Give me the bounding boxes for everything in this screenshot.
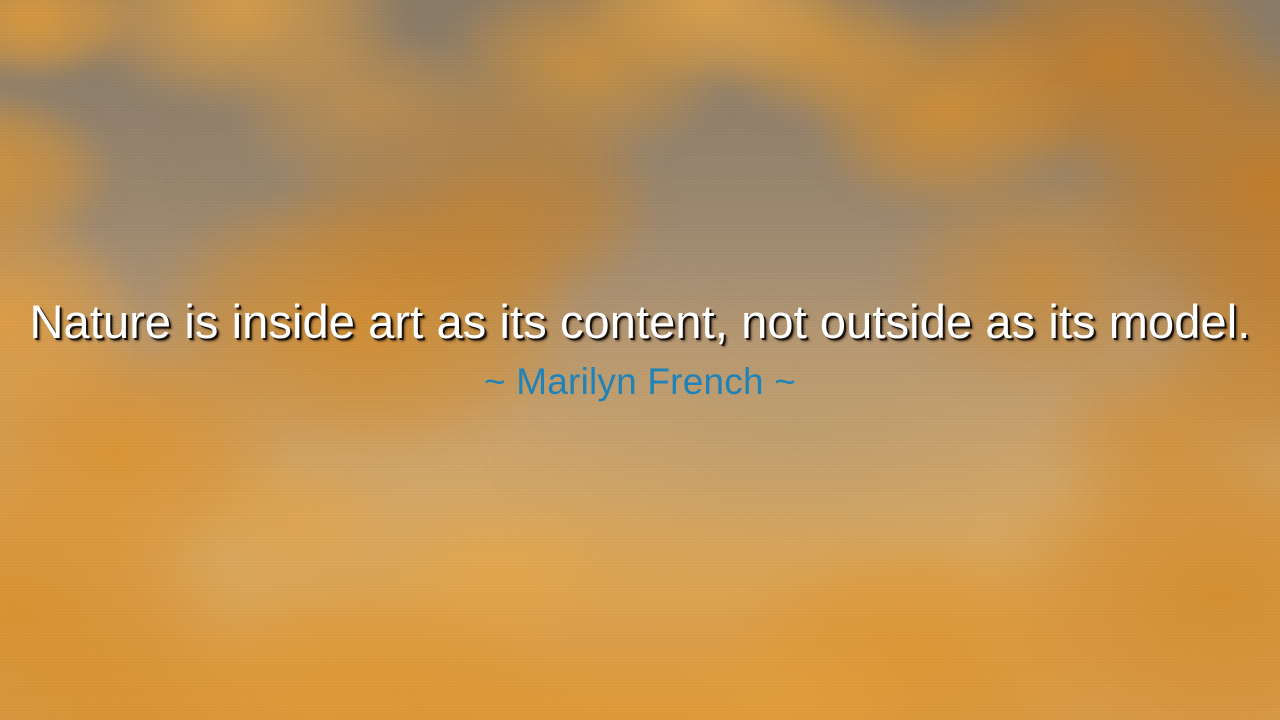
quote-block: Nature is inside art as its content, not…: [0, 296, 1280, 402]
quote-image-canvas: Nature is inside art as its content, not…: [0, 0, 1280, 720]
quote-text: Nature is inside art as its content, not…: [0, 296, 1280, 349]
quote-author: ~ Marilyn French ~: [0, 361, 1280, 402]
